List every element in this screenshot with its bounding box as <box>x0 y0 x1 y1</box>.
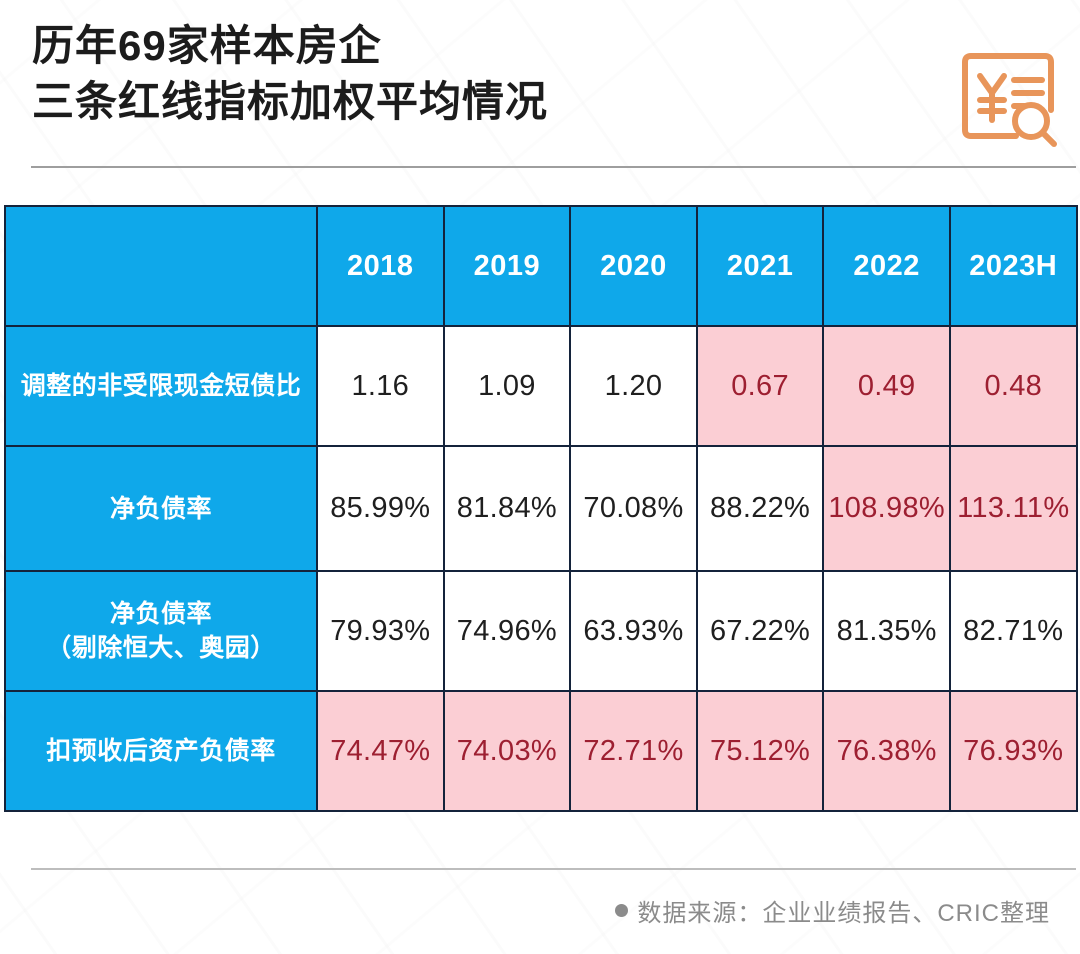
table-row: 净负债率 85.99% 81.84% 70.08% 88.22% 108.98%… <box>5 446 1077 571</box>
cell-r4-c2019: 74.03% <box>444 691 571 811</box>
cell-r3-c2019: 74.96% <box>444 571 571 691</box>
column-header-2020: 2020 <box>570 206 697 326</box>
column-header-2021: 2021 <box>697 206 824 326</box>
cell-r3-c2023h: 82.71% <box>950 571 1077 691</box>
cell-r2-c2021: 88.22% <box>697 446 824 571</box>
infographic-page: 历年69家样本房企 三条红线指标加权平均情况 <box>0 0 1080 954</box>
metrics-table-container: 2018 2019 2020 2021 2022 2023H 调整的非受限现金短… <box>4 205 1076 812</box>
row-label-subtext: （剔除恒大、奥园） <box>14 631 308 665</box>
column-header-2019: 2019 <box>444 206 571 326</box>
document-yuan-search-icon <box>954 48 1062 152</box>
header: 历年69家样本房企 三条红线指标加权平均情况 <box>0 0 1080 168</box>
cell-r4-c2022: 76.38% <box>823 691 950 811</box>
cell-r3-c2021: 67.22% <box>697 571 824 691</box>
page-title: 历年69家样本房企 三条红线指标加权平均情况 <box>32 18 852 130</box>
cell-r4-c2020: 72.71% <box>570 691 697 811</box>
cell-r3-c2022: 81.35% <box>823 571 950 691</box>
row-label-cash-short-debt-ratio: 调整的非受限现金短债比 <box>5 326 317 446</box>
cell-r2-c2019: 81.84% <box>444 446 571 571</box>
source-note-text: 数据来源：企业业绩报告、CRIC整理 <box>637 893 1050 928</box>
row-label-text: 调整的非受限现金短债比 <box>21 372 302 400</box>
cell-r4-c2021: 75.12% <box>697 691 824 811</box>
table-header-row: 2018 2019 2020 2021 2022 2023H <box>5 206 1077 326</box>
source-note: 数据来源：企业业绩报告、CRIC整理 <box>615 893 1050 928</box>
cell-r3-c2020: 63.93% <box>570 571 697 691</box>
row-label-net-gearing-ratio: 净负债率 <box>5 446 317 571</box>
column-header-2022: 2022 <box>823 206 950 326</box>
title-line-1: 历年69家样本房企 <box>32 18 852 74</box>
footer-divider <box>31 868 1076 870</box>
cell-r2-c2018: 85.99% <box>317 446 444 571</box>
cell-r4-c2023h: 76.93% <box>950 691 1077 811</box>
table-row: 扣预收后资产负债率 74.47% 74.03% 72.71% 75.12% 76… <box>5 691 1077 811</box>
cell-r4-c2018: 74.47% <box>317 691 444 811</box>
row-label-net-gearing-ratio-excl: 净负债率 （剔除恒大、奥园） <box>5 571 317 691</box>
title-line-2: 三条红线指标加权平均情况 <box>32 74 852 130</box>
cell-r1-c2019: 1.09 <box>444 326 571 446</box>
row-label-liability-ratio-excl-presale: 扣预收后资产负债率 <box>5 691 317 811</box>
cell-r1-c2018: 1.16 <box>317 326 444 446</box>
cell-r1-c2020: 1.20 <box>570 326 697 446</box>
bullet-icon <box>615 904 628 917</box>
cell-r3-c2018: 79.93% <box>317 571 444 691</box>
cell-r2-c2023h: 113.11% <box>950 446 1077 571</box>
row-label-text: 扣预收后资产负债率 <box>46 737 276 765</box>
cell-r1-c2023h: 0.48 <box>950 326 1077 446</box>
table-row: 净负债率 （剔除恒大、奥园） 79.93% 74.96% 63.93% 67.2… <box>5 571 1077 691</box>
row-label-text: 净负债率 <box>110 495 212 523</box>
cell-r1-c2021: 0.67 <box>697 326 824 446</box>
table-corner-cell <box>5 206 317 326</box>
column-header-2018: 2018 <box>317 206 444 326</box>
cell-r1-c2022: 0.49 <box>823 326 950 446</box>
cell-r2-c2022: 108.98% <box>823 446 950 571</box>
cell-r2-c2020: 70.08% <box>570 446 697 571</box>
header-divider <box>31 166 1076 168</box>
table-row: 调整的非受限现金短债比 1.16 1.09 1.20 0.67 0.49 0.4… <box>5 326 1077 446</box>
row-label-text: 净负债率 <box>110 600 212 628</box>
column-header-2023h: 2023H <box>950 206 1077 326</box>
metrics-table: 2018 2019 2020 2021 2022 2023H 调整的非受限现金短… <box>4 205 1078 812</box>
